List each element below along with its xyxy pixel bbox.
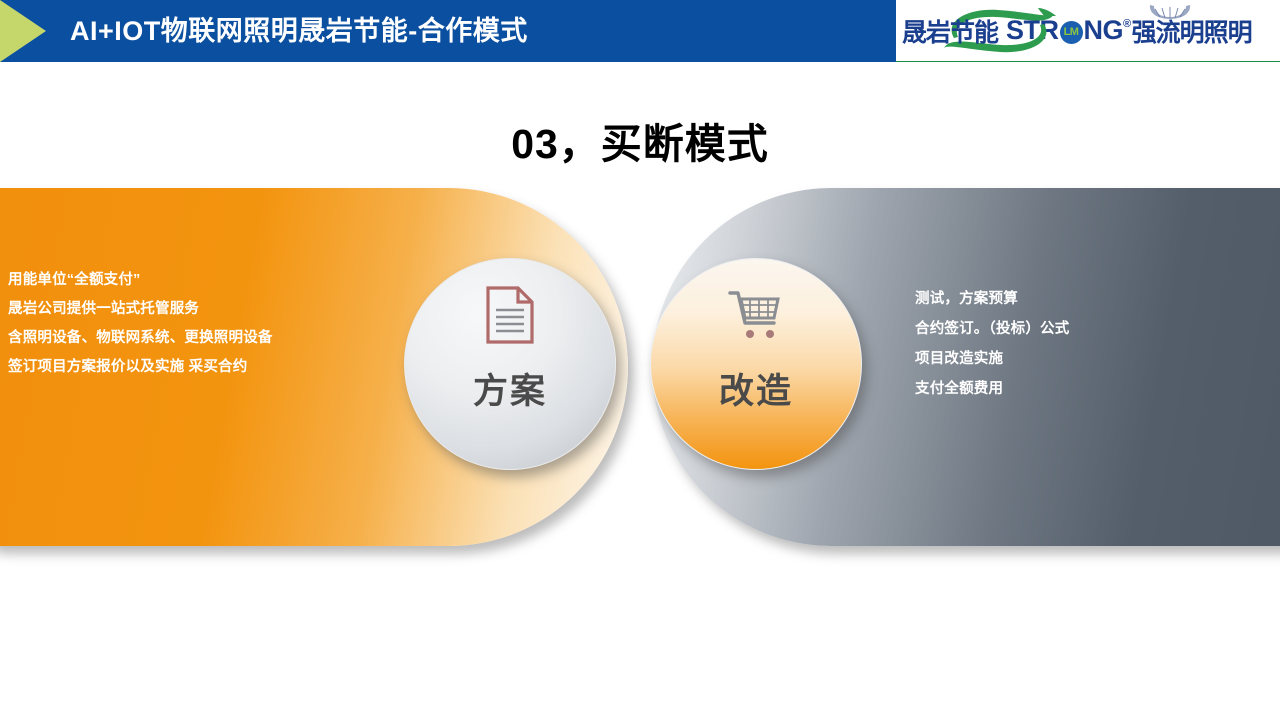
document-icon (485, 285, 535, 345)
logo-brand-en: STRLMNG® (1006, 15, 1131, 46)
left-panel-text: 用能单位“全额支付” 晟岩公司提供一站式托管服务 含照明设备、物联网系统、更换照… (8, 266, 358, 382)
logo-lm-badge-icon: LM (1060, 21, 1083, 44)
left-text-line-3: 含照明设备、物联网系统、更换照明设备 (8, 324, 358, 353)
right-text-line-3: 项目改造实施 (915, 344, 1245, 374)
left-text-line-4: 签订项目方案报价以及实施 采买合约 (8, 353, 358, 382)
shopping-cart-icon (728, 285, 784, 345)
logo-fan-icon (1148, 2, 1192, 20)
logo-strong-pre: STR (1006, 15, 1059, 46)
page-title: 03，买断模式 (0, 110, 1280, 170)
company-logo: 晟岩节能 STRLMNG® 强流明照明 (896, 0, 1280, 62)
circle-renovation-label: 改造 (719, 363, 793, 414)
registered-mark: ® (1123, 18, 1131, 30)
right-text-line-4: 支付全额费用 (915, 374, 1245, 404)
right-panel-text: 测试，方案预算 合约签订。（投标）公式 项目改造实施 支付全额费用 (915, 284, 1245, 404)
right-text-line-1: 测试，方案预算 (915, 284, 1245, 314)
left-text-line-1: 用能单位“全额支付” (8, 266, 358, 295)
slide-canvas: AI+IOT物联网照明晟岩节能-合作模式 晟岩节能 STRLMNG® 强流明照明 (0, 0, 1280, 720)
slide-header: AI+IOT物联网照明晟岩节能-合作模式 晟岩节能 STRLMNG® 强流明照明 (0, 0, 1280, 66)
right-text-line-2: 合约签订。（投标）公式 (915, 314, 1245, 344)
logo-strong-post: NG (1084, 15, 1124, 46)
circle-plan[interactable]: 方案 (404, 258, 616, 470)
circle-renovation[interactable]: 改造 (650, 258, 862, 470)
left-text-line-2: 晟岩公司提供一站式托管服务 (8, 295, 358, 324)
logo-brand-cn: 晟岩节能 (902, 13, 998, 49)
circle-plan-label: 方案 (473, 363, 547, 414)
header-title: AI+IOT物联网照明晟岩节能-合作模式 (70, 0, 528, 62)
